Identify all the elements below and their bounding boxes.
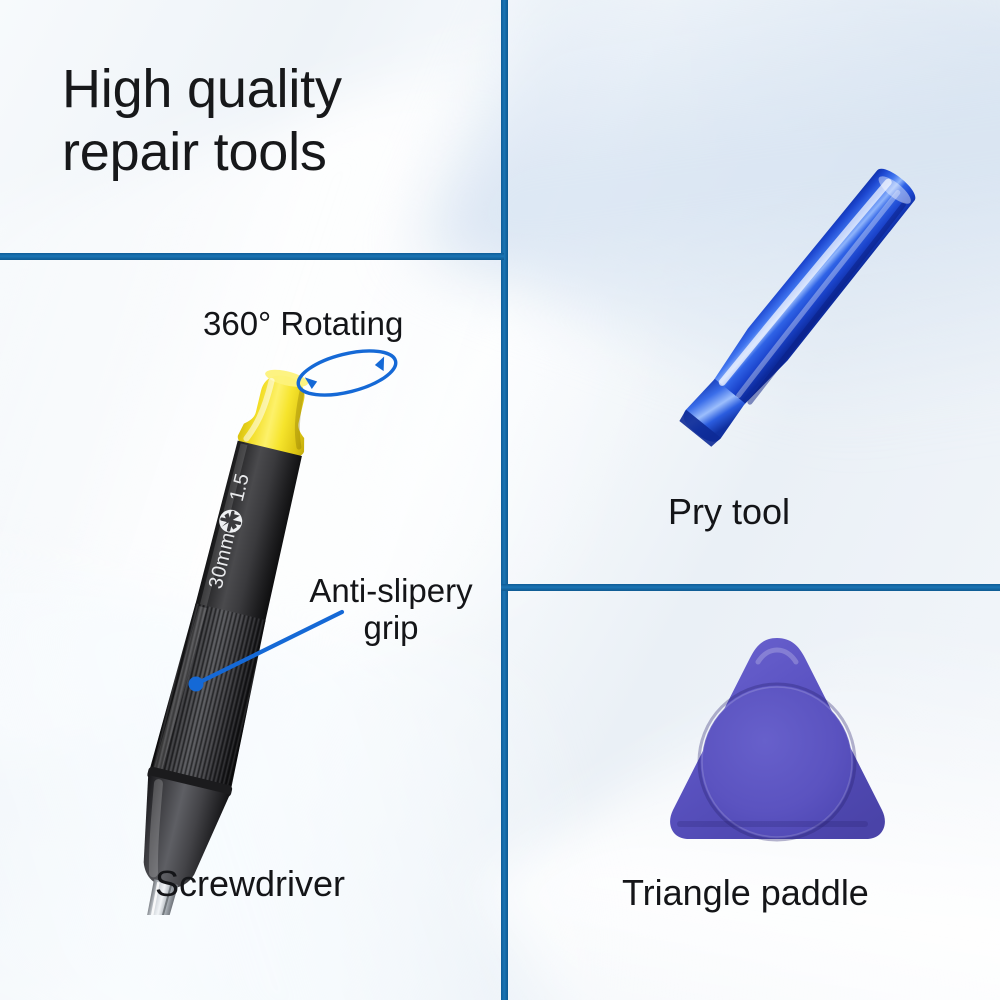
annotation-rotating: 360° Rotating <box>203 305 403 343</box>
panel-divider-right-horizontal <box>501 584 1000 591</box>
caption-pry-tool: Pry tool <box>668 491 790 533</box>
panel-divider-left-horizontal <box>0 253 504 260</box>
caption-triangle-paddle: Triangle paddle <box>622 872 869 914</box>
panel-divider-vertical <box>501 0 508 1000</box>
annotation-grip: Anti-slipery grip <box>286 573 496 647</box>
pry-tool-illustration <box>645 140 945 480</box>
page-title-line-1: High quality <box>62 59 342 119</box>
triangle-paddle-illustration <box>650 628 905 860</box>
infographic-canvas: High quality repair tools <box>0 0 1000 1000</box>
page-title: High quality repair tools <box>62 58 492 184</box>
caption-screwdriver: Screwdriver <box>155 863 345 905</box>
page-title-line-2: repair tools <box>62 121 492 184</box>
circular-rotation-arrow-icon <box>288 340 406 406</box>
